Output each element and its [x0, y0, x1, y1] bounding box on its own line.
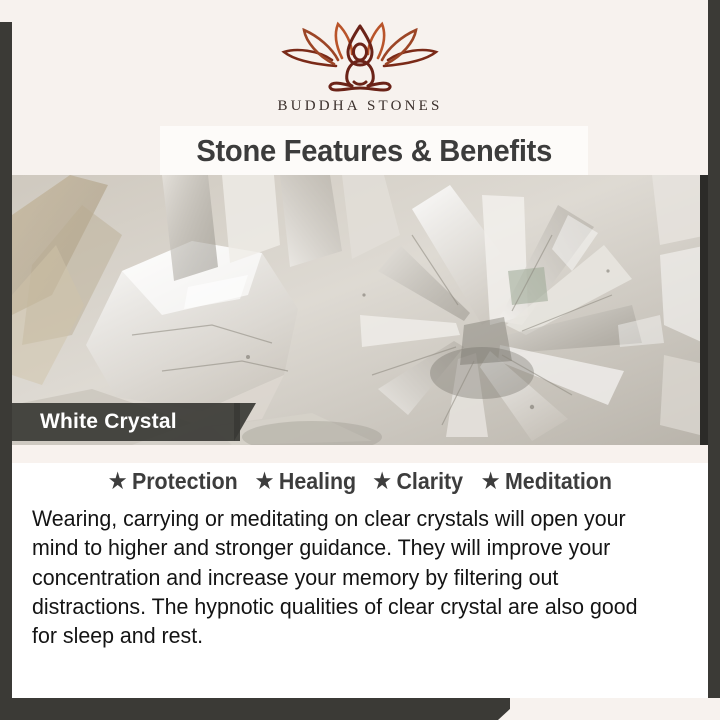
card-header: BUDDHA STONES Stone Features & Benefits	[12, 0, 708, 175]
title-banner: Stone Features & Benefits	[160, 126, 588, 176]
frame-notch-bottom-right	[510, 698, 720, 720]
benefit-label: Protection	[132, 468, 238, 495]
star-icon: ★	[108, 471, 126, 492]
benefits-list: ★ Protection ★ Healing ★ Clarity ★ Medit…	[12, 468, 708, 495]
benefit-item-healing: ★ Healing	[251, 468, 361, 495]
benefit-label: Clarity	[397, 468, 464, 495]
description-paragraph: Wearing, carrying or meditating on clear…	[32, 504, 653, 650]
photo-caption-bar: White Crystal	[12, 403, 240, 441]
lotus-meditation-icon	[280, 20, 440, 96]
brand-logo: BUDDHA STONES	[12, 20, 708, 115]
section-divider-strip	[12, 445, 708, 463]
photo-right-edge-shadow	[700, 175, 708, 445]
brand-wordmark: BUDDHA STONES	[12, 98, 708, 115]
benefits-section: ★ Protection ★ Healing ★ Clarity ★ Medit…	[12, 463, 708, 698]
benefit-item-protection: ★ Protection	[104, 468, 242, 495]
benefit-item-meditation: ★ Meditation	[477, 468, 616, 495]
benefit-label: Meditation	[505, 468, 612, 495]
star-icon: ★	[373, 471, 391, 492]
stone-benefits-card: BUDDHA STONES Stone Features & Benefits	[0, 0, 720, 720]
benefit-item-clarity: ★ Clarity	[369, 468, 468, 495]
page-title: Stone Features & Benefits	[196, 133, 552, 169]
photo-caption-label: White Crystal	[40, 410, 177, 434]
star-icon: ★	[256, 471, 274, 492]
card-panel: BUDDHA STONES Stone Features & Benefits	[12, 0, 708, 698]
white-crystal-cluster-photo: White Crystal	[12, 175, 708, 445]
benefit-label: Healing	[279, 468, 356, 495]
star-icon: ★	[481, 471, 499, 492]
